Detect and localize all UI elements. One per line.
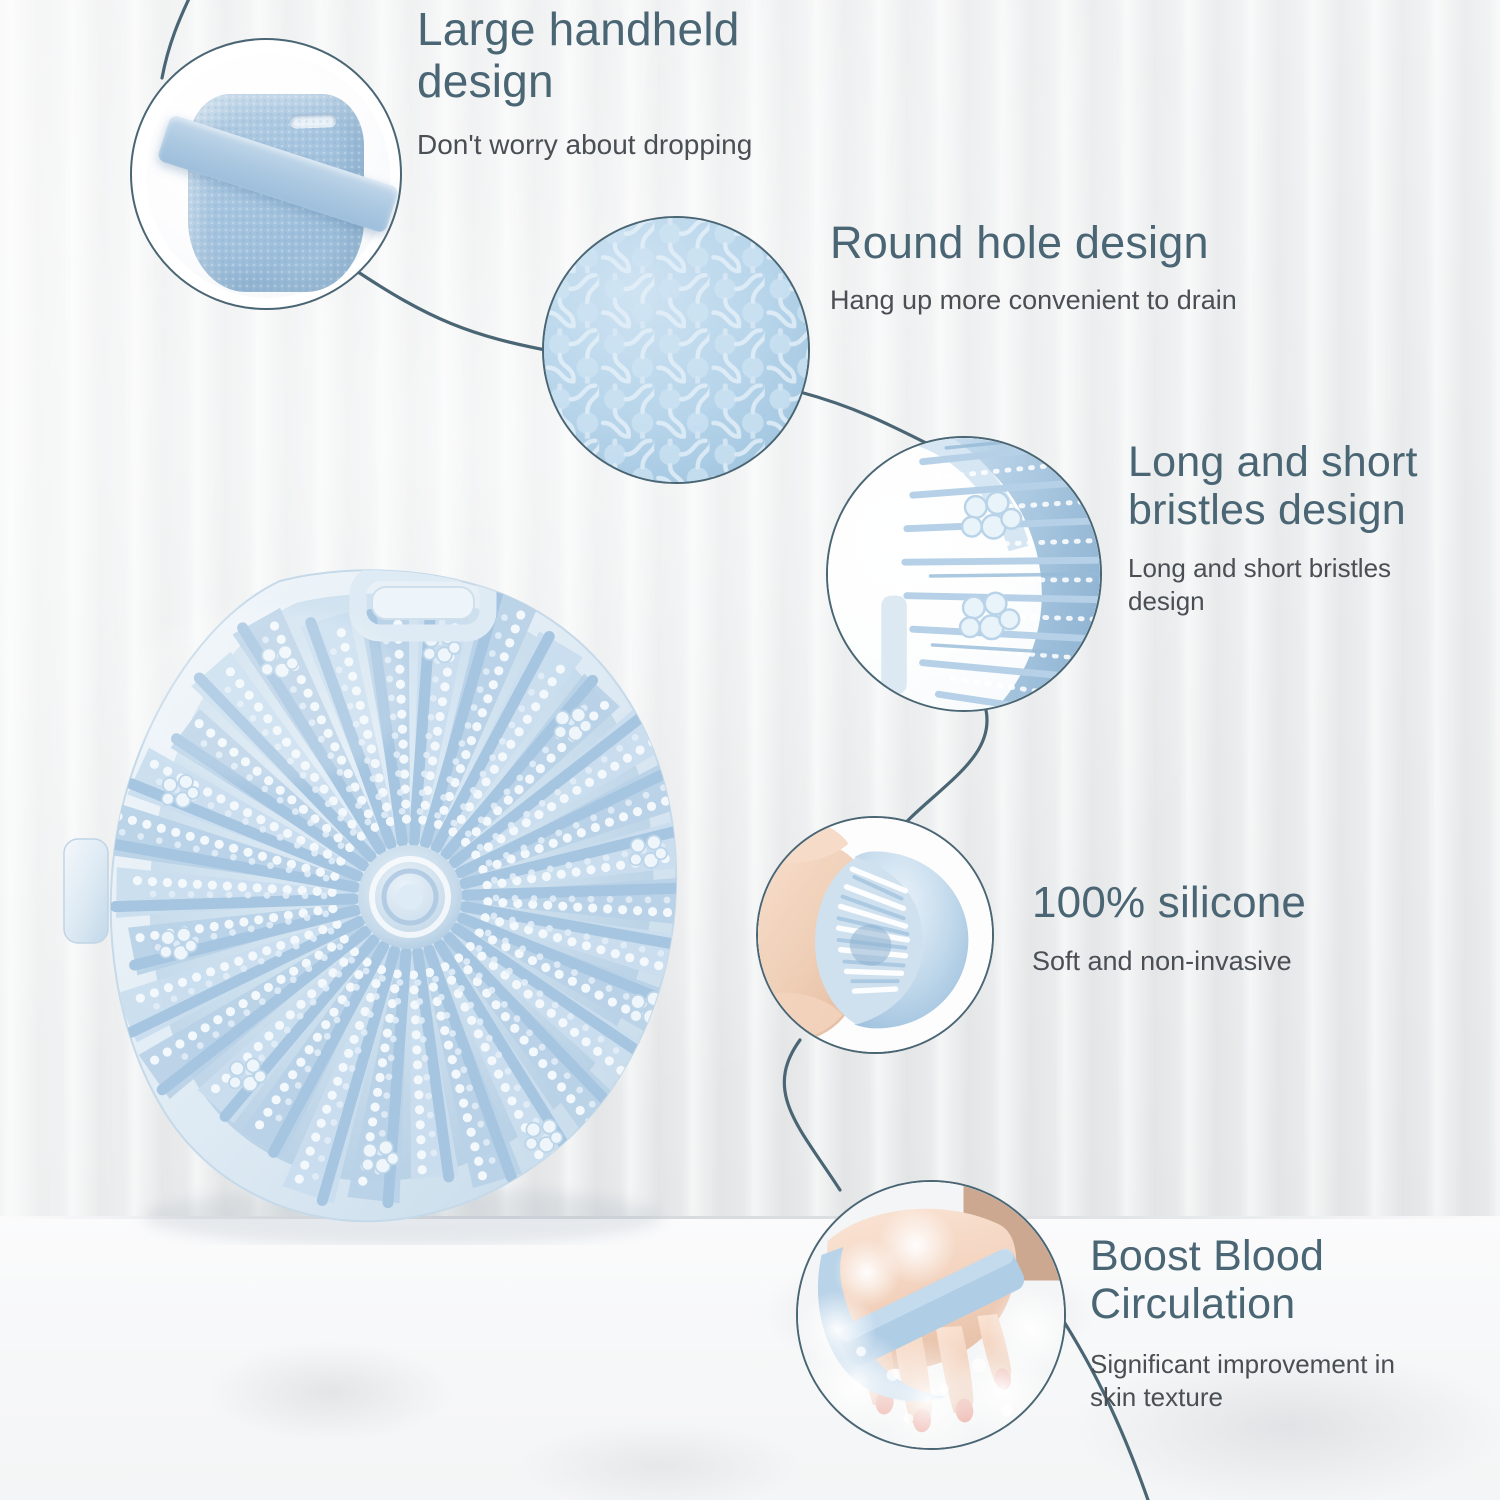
feature-title-bristles: Long and shortbristles design bbox=[1128, 438, 1458, 534]
callout-silicone-image bbox=[756, 816, 994, 1054]
main-product-image bbox=[58, 545, 748, 1245]
connector-silicone-to-soap bbox=[784, 1040, 840, 1190]
feature-subtitle-round-hole: Hang up more convenient to drain bbox=[830, 284, 1300, 318]
feature-text-handheld: Large handhelddesign Don't worry about d… bbox=[417, 4, 827, 162]
feature-title-silicone: 100% silicone bbox=[1032, 878, 1372, 927]
soapy-hand-scene bbox=[798, 1182, 1064, 1448]
feature-text-round-hole: Round hole design Hang up more convenien… bbox=[830, 218, 1300, 318]
feature-subtitle-silicone: Soft and non-invasive bbox=[1032, 945, 1372, 979]
feature-subtitle-boost-circulation: Significant improvement in skin texture bbox=[1090, 1348, 1440, 1413]
feature-title-round-hole: Round hole design bbox=[830, 218, 1300, 268]
connector-handheld-to-holes bbox=[352, 268, 556, 352]
feature-subtitle-handheld: Don't worry about dropping bbox=[417, 127, 827, 162]
bristle-macro bbox=[828, 438, 1100, 710]
callout-handheld-image bbox=[130, 38, 402, 310]
infographic-stage: Large handhelddesign Don't worry about d… bbox=[0, 0, 1500, 1500]
feature-text-boost-circulation: Boost BloodCirculation Significant impro… bbox=[1090, 1232, 1440, 1413]
hand-squeeze-brush bbox=[758, 818, 992, 1052]
callout-boost-circulation-image bbox=[796, 1180, 1066, 1450]
callout-bristles-image bbox=[826, 436, 1102, 712]
round-hole-texture bbox=[544, 218, 808, 482]
feature-title-handheld: Large handhelddesign bbox=[417, 4, 827, 107]
feature-text-bristles: Long and shortbristles design Long and s… bbox=[1128, 438, 1458, 617]
hang-slot bbox=[290, 113, 336, 128]
feature-subtitle-bristles: Long and short bristles design bbox=[1128, 552, 1458, 617]
feature-text-silicone: 100% silicone Soft and non-invasive bbox=[1032, 878, 1372, 979]
feature-title-boost-circulation: Boost BloodCirculation bbox=[1090, 1232, 1440, 1328]
callout-handheld-backdrop bbox=[146, 54, 390, 298]
callout-round-hole-image bbox=[542, 216, 810, 484]
